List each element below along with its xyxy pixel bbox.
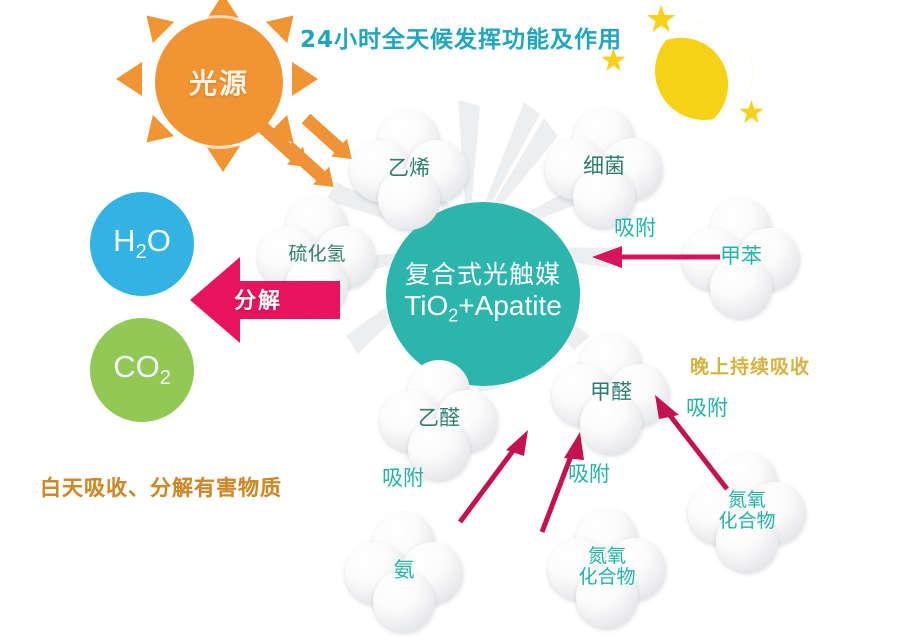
adsorb-label-toluene: 吸附 bbox=[614, 212, 656, 242]
sun-ray-icon bbox=[136, 5, 174, 43]
decompose-arrow: 分解 bbox=[190, 255, 340, 345]
sun-ray-icon bbox=[206, 0, 240, 20]
sun-ray-icon bbox=[266, 5, 304, 43]
molecule-sphere bbox=[378, 168, 440, 230]
core-photocatalyst-circle: 复合式光触媒 TiO2+Apatite bbox=[386, 202, 580, 386]
core-name-en-main: TiO bbox=[404, 290, 448, 321]
core-name-en: TiO2+Apatite bbox=[404, 290, 562, 326]
adsorb-label-formaldehyde: 吸附 bbox=[686, 392, 728, 422]
sun-ray-icon bbox=[206, 146, 240, 172]
page-title: 24小时全天候发挥功能及作用 bbox=[300, 20, 622, 54]
pollutant-cluster-ammonia: 氨 bbox=[345, 512, 463, 630]
output-formula-h2o: H2O bbox=[113, 223, 171, 264]
pollutant-cluster-bacteria: 细菌 bbox=[545, 108, 663, 226]
output-circle-h2o: H2O bbox=[90, 192, 194, 296]
molecule-sphere bbox=[373, 570, 435, 632]
adsorb-arrow-toluene-icon bbox=[592, 245, 722, 269]
molecule-sphere bbox=[576, 566, 638, 628]
decompose-arrow-label: 分解 bbox=[234, 283, 282, 315]
molecule-sphere bbox=[716, 510, 778, 572]
star-icon: ★ bbox=[600, 46, 627, 76]
sun-ray-icon bbox=[292, 62, 318, 96]
core-name-en-tail: +Apatite bbox=[458, 290, 562, 321]
adsorb-label-ammonia: 吸附 bbox=[382, 462, 424, 492]
star-icon: ★ bbox=[738, 98, 765, 128]
adsorb-label-nox: 吸附 bbox=[568, 458, 610, 488]
output-circle-co2: CO2 bbox=[90, 318, 194, 422]
light-source-label: 光源 bbox=[189, 62, 249, 102]
daytime-note: 白天吸收、分解有害物质 bbox=[40, 472, 282, 502]
output-formula-co2: CO2 bbox=[113, 349, 171, 390]
core-name-en-sub: 2 bbox=[448, 306, 458, 326]
photocatalyst-diagram: 光源 24小时全天候发挥功能及作用 ★ ★ ★ 复合式光触媒 TiO2+Apat… bbox=[0, 0, 900, 640]
sun-ray-icon bbox=[116, 62, 142, 96]
core-name-cn: 复合式光触媒 bbox=[405, 261, 561, 290]
light-source-sun: 光源 bbox=[120, 0, 320, 200]
night-note: 晚上持续吸收 bbox=[690, 352, 810, 379]
star-icon: ★ bbox=[645, 2, 677, 38]
